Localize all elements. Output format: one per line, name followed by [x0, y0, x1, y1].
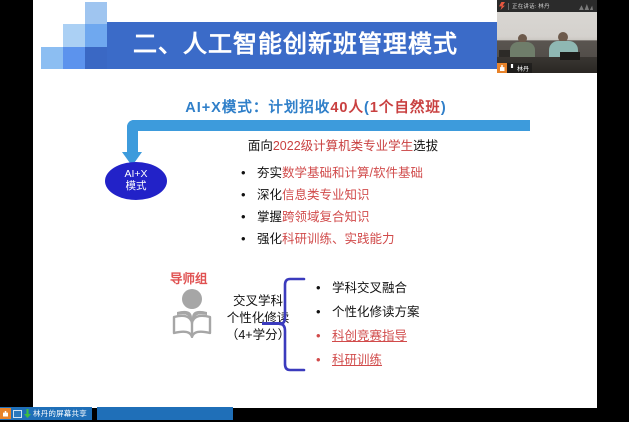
screen-share-viewer: 二、人工智能创新班管理模式 AI+X模式：计划招收40人(1个自然班) AI+X… — [0, 0, 629, 422]
participant-name-label: 林丹 — [517, 64, 529, 73]
bullet-lead: 强化 — [257, 232, 282, 246]
aix-node-line1: AI+X — [105, 168, 167, 180]
bullet-lead: 深化 — [257, 188, 282, 202]
network-signal-icon — [579, 2, 593, 10]
bullet-dot-icon: • — [241, 209, 257, 224]
bullet-dot-icon: • — [316, 280, 332, 295]
headline-emphasis-class: 1个自然班 — [370, 100, 441, 116]
speaker-icon — [499, 2, 505, 10]
active-speaker-label: 正在讲话: 林丹 — [512, 2, 550, 10]
avatar-glyph-icon — [3, 411, 8, 417]
list-item: • 科研训练 — [316, 349, 536, 373]
bullet-dot-icon: • — [241, 187, 257, 202]
list-item-label: 科研训练 — [332, 349, 382, 368]
microphone-icon — [509, 64, 515, 72]
list-item: • 学科交叉融合 — [316, 277, 536, 301]
bullet-text: 强化科研训练、实践能力 — [257, 228, 395, 247]
participant-avatar-icon — [497, 63, 507, 73]
subhead-emphasis: 2022级计算机类专业学生 — [273, 139, 413, 153]
list-item: • 个性化修读方案 — [316, 301, 536, 325]
decorative-square — [63, 47, 85, 69]
slide-subheadline: 面向2022级计算机类专业学生选拔 — [193, 135, 493, 154]
video-status-bar: 正在讲话: 林丹 — [497, 0, 597, 12]
bullet-text: 夯实数学基础和计算/软件基础 — [257, 162, 423, 181]
list-item-label: 学科交叉融合 — [332, 277, 407, 296]
objective-bullet-list: • 夯实数学基础和计算/软件基础 • 深化信息类专业知识 • 掌握跨领域复合知识… — [241, 162, 531, 250]
bullet-dot-icon: • — [241, 231, 257, 246]
screen-share-icon — [13, 410, 22, 418]
video-thumbnail-panel[interactable]: 正在讲话: 林丹 林丹 — [497, 0, 597, 73]
headline-emphasis-count: 40人 — [330, 100, 364, 116]
advisor-output-list: • 学科交叉融合 • 个性化修读方案 • 科创竞赛指导 • 科研训练 — [316, 277, 536, 373]
slide-headline: AI+X模式：计划招收40人(1个自然班) — [66, 96, 566, 117]
video-feed: 林丹 — [497, 12, 597, 73]
decorative-square — [85, 24, 107, 47]
person-reading-icon — [171, 288, 213, 338]
bullet-text: 掌握跨领域复合知识 — [257, 206, 370, 225]
list-item: • 夯实数学基础和计算/软件基础 — [241, 162, 531, 184]
subhead-prefix: 面向 — [248, 139, 273, 153]
list-item: • 掌握跨领域复合知识 — [241, 206, 531, 228]
bullet-text: 深化信息类专业知识 — [257, 184, 370, 203]
list-item: • 科创竞赛指导 — [316, 325, 536, 349]
bullet-lead: 掌握 — [257, 210, 282, 224]
bullet-dot-icon: • — [316, 304, 332, 319]
curly-brace-icon — [278, 277, 308, 372]
bullet-dot-icon: • — [316, 352, 332, 367]
list-item-label: 科创竞赛指导 — [332, 325, 407, 344]
subhead-suffix: 选拔 — [413, 139, 438, 153]
decorative-square — [41, 47, 63, 69]
taskbar-screenshare-item[interactable]: 林丹的屏幕共享 — [0, 407, 92, 420]
divider — [508, 3, 509, 10]
participant-avatar-icon — [0, 408, 11, 419]
bullet-emphasis: 数学基础和计算/软件基础 — [282, 166, 423, 180]
aix-node-line2: 模式 — [105, 180, 167, 192]
bullet-dot-icon: • — [316, 328, 332, 343]
decorative-square — [85, 2, 107, 24]
green-arrow-icon — [24, 409, 31, 418]
list-item: • 深化信息类专业知识 — [241, 184, 531, 206]
list-item-label: 个性化修读方案 — [332, 301, 420, 320]
decorative-square — [63, 24, 85, 47]
taskbar-highlight-strip — [97, 407, 233, 420]
laptop-object — [560, 52, 580, 60]
list-item: • 强化科研训练、实践能力 — [241, 228, 531, 250]
flow-arrow-horizontal — [127, 120, 530, 131]
decorative-square — [85, 47, 107, 69]
aix-mode-node: AI+X 模式 — [105, 162, 167, 200]
headline-paren-close: ) — [441, 100, 447, 116]
flow-arrow-stem — [127, 120, 138, 154]
participant-name-badge: 林丹 — [497, 63, 532, 73]
bullet-lead: 夯实 — [257, 166, 282, 180]
taskbar: 林丹的屏幕共享 — [0, 405, 629, 422]
bullet-emphasis: 跨领域复合知识 — [282, 210, 370, 224]
advisor-group-label: 导师组 — [170, 268, 208, 287]
taskbar-item-label: 林丹的屏幕共享 — [33, 408, 87, 419]
bullet-emphasis: 科研训练、实践能力 — [282, 232, 395, 246]
bullet-dot-icon: • — [241, 165, 257, 180]
bullet-emphasis: 信息类专业知识 — [282, 188, 370, 202]
avatar-glyph-icon — [500, 65, 505, 71]
headline-prefix: AI+X模式：计划招收 — [185, 100, 330, 116]
